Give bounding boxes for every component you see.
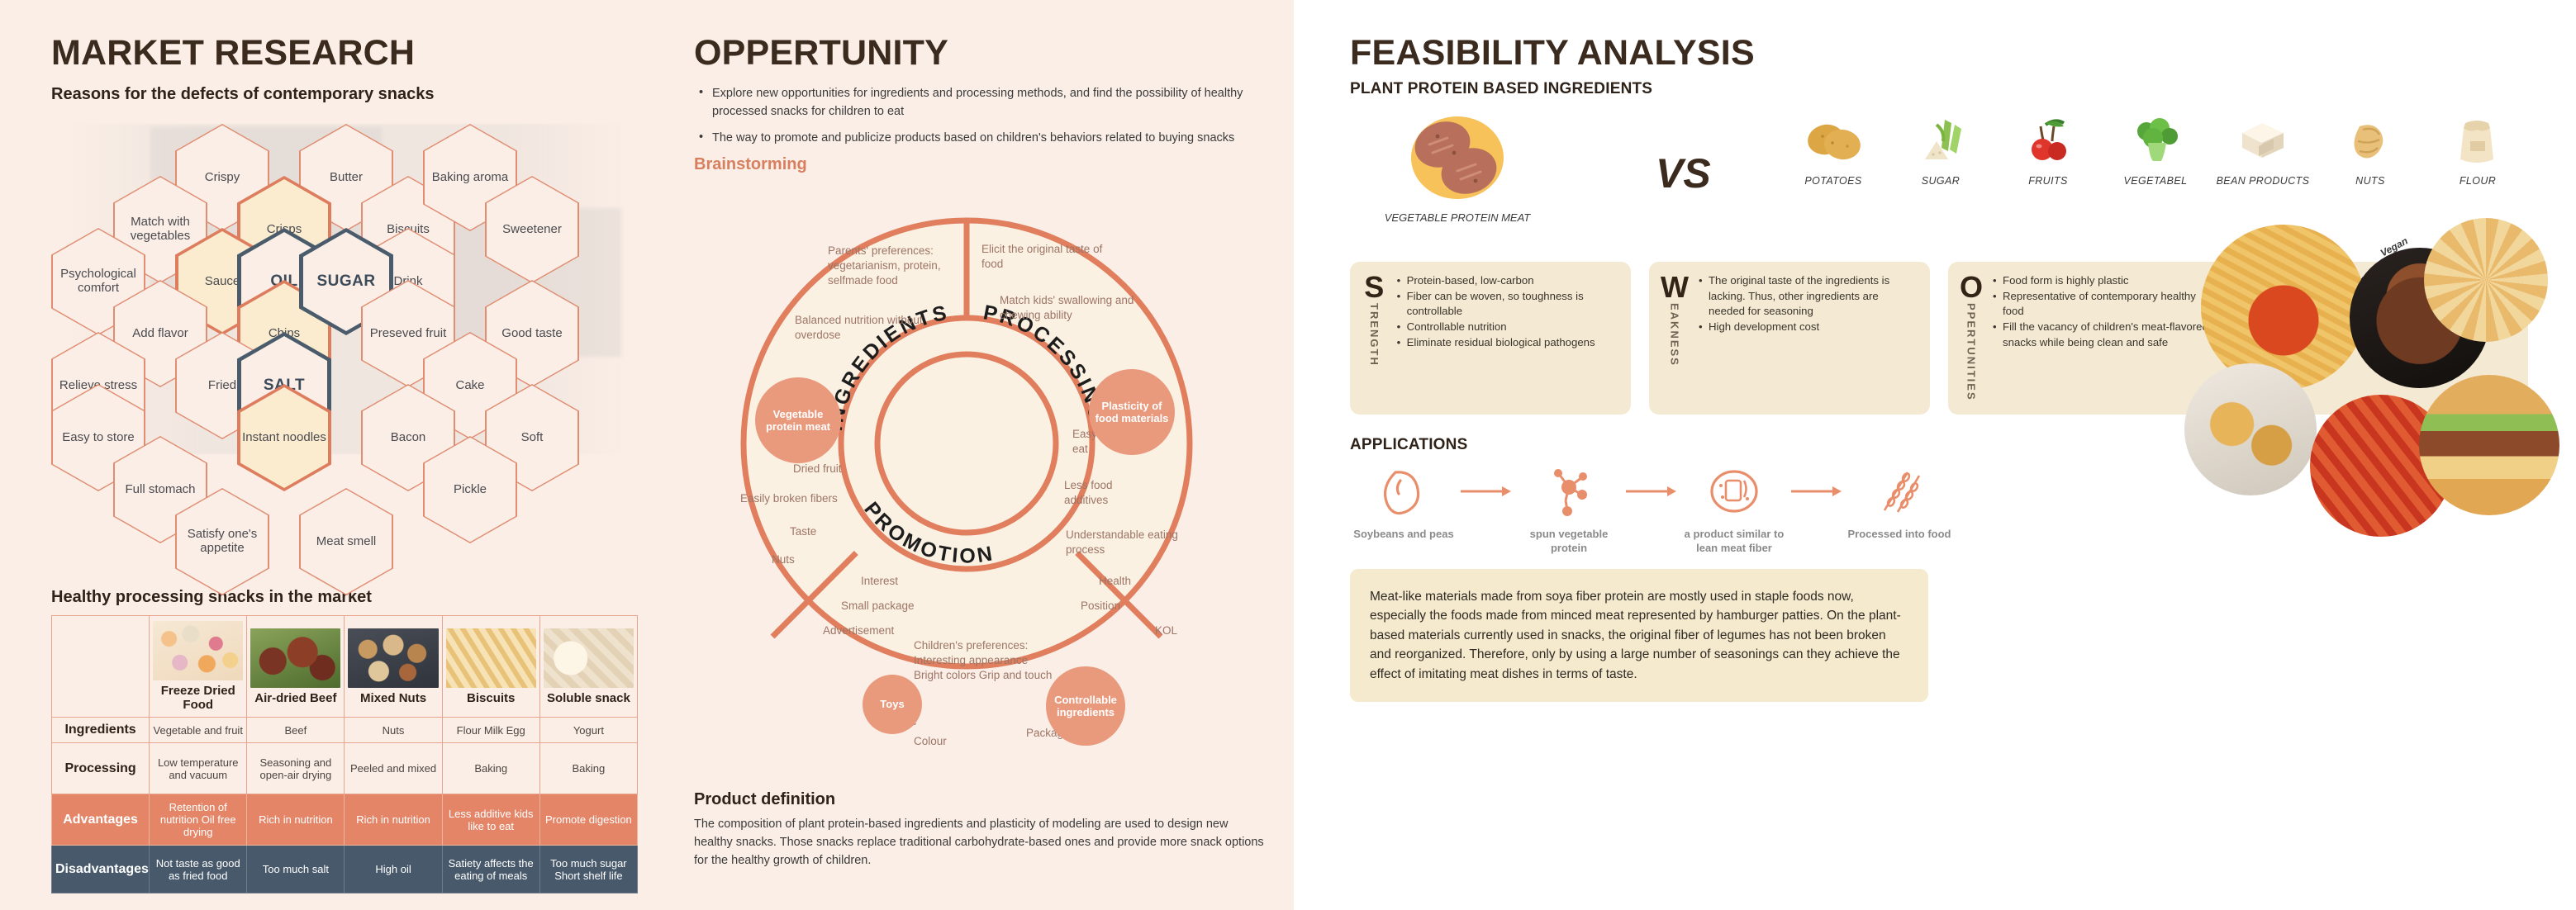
wheel-note-childrens-preferences: Children's preferences: Interesting appe…	[914, 638, 1058, 682]
header-cell-soluble-snack: Soluble snack	[539, 616, 637, 718]
opportunity-title: OPPERTUNITY	[694, 33, 1272, 73]
opportunity-bullet: Explore new opportunities for ingredient…	[694, 85, 1272, 121]
bubble-toys: Toys	[863, 675, 922, 734]
brainstorming-wheel: INGREDIENTS PROCESSING PROMOTION Parents…	[735, 179, 1198, 691]
flow-arrow-1	[1457, 466, 1515, 517]
swot-card-weakness: W EAKNESS The original taste of the ingr…	[1649, 262, 1930, 415]
market-research-section: MARKET RESEARCH Reasons for the defects …	[51, 33, 646, 893]
wheel-note-position: Position	[1081, 599, 1155, 614]
wheel-note-small-package: Small package	[841, 599, 965, 614]
thumb-air-dried-beef	[250, 628, 340, 688]
wheel-note-advertisement: Advertisement	[823, 623, 955, 638]
ingredient-sugar: SUGAR	[1879, 115, 2003, 187]
ingredient-nuts: NUTS	[2308, 115, 2432, 187]
swot-letter-opportunities: O PPERTUNITIES	[1960, 273, 1983, 401]
swot-card-strength: S TRENGTH Protein-based, low-carbon Fibe…	[1350, 262, 1631, 415]
swot-letter-weakness: W EAKNESS	[1661, 273, 1689, 401]
arrow-right-icon	[1791, 486, 1842, 497]
flow-arrow-3	[1788, 466, 1846, 517]
wheel-note-less-food-additives: Less food additives	[1064, 478, 1155, 508]
table-row-ingredients: Ingredients Vegetable and fruit Beef Nut…	[52, 718, 638, 743]
wheat-icon	[1873, 466, 1926, 517]
table-header-row: Freeze Dried Food Air-dried Beef Mixed N…	[52, 616, 638, 718]
flow-step-spun-vegetable-protein: spun vegetable protein	[1515, 466, 1623, 556]
healthy-snacks-table: Freeze Dried Food Air-dried Beef Mixed N…	[51, 615, 638, 893]
fiber-patty-icon	[1708, 466, 1761, 517]
swot-items-weakness: The original taste of the ingredients is…	[1697, 273, 1917, 401]
bubble-plasticity-of-food-materials: Plasticity of food materials	[1089, 369, 1175, 455]
wheel-note-understandable-eating-process: Understandable eating process	[1066, 528, 1181, 557]
cherry-icon	[2016, 115, 2080, 166]
thumb-biscuits	[446, 628, 536, 688]
vs-label: VS	[1656, 149, 1711, 197]
flow-step-lean-meat-fiber: a product similar to lean meat fiber	[1680, 466, 1788, 556]
hero-vegetable-protein-meat: VEGETABLE PROTEIN MEAT	[1350, 111, 1565, 224]
brainstorming-label: Brainstorming	[694, 155, 1272, 174]
header-cell-air-dried-beef: Air-dried Beef	[247, 616, 345, 718]
table-row-processing: Processing Low temperature and vacuum Se…	[52, 743, 638, 794]
broccoli-icon	[2123, 115, 2188, 166]
hexagon-diagram: Crispy Butter Match with vegetables Cris…	[51, 109, 646, 464]
opportunity-section: OPPERTUNITY Explore new opportunities fo…	[694, 33, 1272, 870]
ingredient-flour: FLOUR	[2416, 115, 2540, 187]
ingredient-bean-products: BEAN PRODUCTS	[2201, 115, 2325, 187]
swot-letter-strength: S TRENGTH	[1362, 273, 1387, 401]
peanut-icon	[2338, 115, 2403, 166]
opportunity-bullets: Explore new opportunities for ingredient…	[694, 85, 1272, 147]
header-cell-freeze-dried-food: Freeze Dried Food	[150, 616, 247, 718]
swot-items-opportunities: Food form is highly plastic Representati…	[1991, 273, 2216, 401]
opportunity-bullet: The way to promote and publicize product…	[694, 130, 1272, 148]
applications-note: Meat-like materials made from soya fiber…	[1350, 569, 1928, 703]
flour-sack-icon	[2445, 115, 2510, 166]
food-photo-collage: Vegan	[2184, 225, 2540, 654]
wheel-note-nuts: Nuts	[772, 552, 846, 567]
wheel-note-easily-broken-fibers: Easily broken fibers	[740, 491, 872, 506]
flow-step-soybeans-and-peas: Soybeans and peas	[1350, 466, 1457, 542]
wheel-note-match-kids-swallowing: Match kids' swallowing and chewing abili…	[1000, 293, 1148, 323]
market-research-title: MARKET RESEARCH	[51, 33, 646, 73]
table-row-disadvantages: Disadvantages Not taste as good as fried…	[52, 846, 638, 893]
molecule-icon	[1542, 466, 1595, 517]
photo-burger	[2419, 375, 2559, 515]
ingredient-potatoes: POTATOES	[1771, 115, 1895, 187]
wheel-note-balanced-nutrition: Balanced nutrition without overdose	[795, 313, 927, 343]
sugarcane-icon	[1908, 115, 1973, 166]
ingredient-fruits: FRUITS	[1986, 115, 2110, 187]
thumb-mixed-nuts	[348, 628, 438, 688]
thumb-freeze-dried-food	[153, 621, 243, 680]
product-definition-title: Product definition	[694, 790, 1272, 809]
thumb-soluble-snack	[544, 628, 634, 688]
wheel-note-colour: Colour	[914, 734, 980, 749]
wheel-note-taste: Taste	[790, 524, 864, 539]
wheel-note-kol: KOL	[1155, 623, 1205, 638]
feasibility-subtitle: PLANT PROTEIN BASED INGREDIENTS	[1350, 80, 2540, 98]
infographic-page: MARKET RESEARCH Reasons for the defects …	[0, 0, 2576, 910]
flow-arrow-2	[1623, 466, 1680, 517]
table-row-advantages: Advantages Retention of nutrition Oil fr…	[52, 794, 638, 846]
bean-icon	[1377, 466, 1430, 517]
wheel-note-elicit-original-taste: Elicit the original taste of food	[981, 242, 1105, 272]
market-research-subtitle: Reasons for the defects of contemporary …	[51, 85, 646, 104]
header-cell-mixed-nuts: Mixed Nuts	[345, 616, 442, 718]
feasibility-analysis-section: FEASIBILITY ANALYSIS PLANT PROTEIN BASED…	[1350, 33, 2540, 702]
arrow-right-icon	[1461, 486, 1512, 497]
wheel-note-health: Health	[1099, 574, 1165, 589]
wheel-note-interest: Interest	[861, 574, 952, 589]
header-cell-biscuits: Biscuits	[442, 616, 539, 718]
ingredient-vegetabel: VEGETABEL	[2094, 115, 2217, 187]
wheel-note-dried-fruit: Dried fruit	[793, 462, 892, 476]
bubble-vegetable-protein-meat: Vegetable protein meat	[755, 377, 841, 463]
wheel-note-parents-preferences: Parents' preferences: vegetarianism, pro…	[828, 244, 985, 287]
arrow-right-icon	[1626, 486, 1677, 497]
hero-caption: VEGETABLE PROTEIN MEAT	[1350, 211, 1565, 224]
patty-icon	[1383, 111, 1532, 204]
potato-icon	[1801, 115, 1865, 166]
flow-step-processed-into-food: Processed into food	[1846, 466, 1953, 542]
feasibility-title: FEASIBILITY ANALYSIS	[1350, 33, 2540, 73]
photo-fried-chicken	[2184, 363, 2317, 495]
header-empty-cell	[52, 616, 150, 718]
product-definition-body: The composition of plant protein-based i…	[694, 816, 1264, 870]
bubble-controllable-ingredients: Controllable ingredients	[1046, 666, 1125, 746]
tofu-icon	[2231, 115, 2295, 166]
photo-pizza	[2424, 218, 2548, 342]
hex-meat-smell: Meat smell	[299, 488, 393, 595]
swot-items-strength: Protein-based, low-carbon Fiber can be w…	[1395, 273, 1618, 401]
photo-pasta	[2201, 225, 2366, 390]
